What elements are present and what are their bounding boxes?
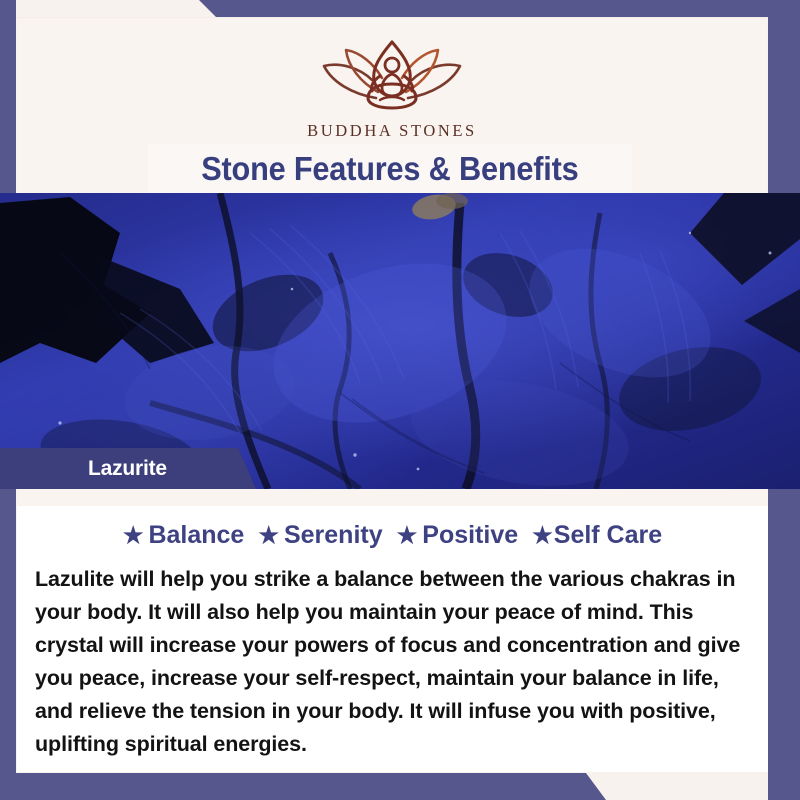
bottom-diagonal-accent bbox=[0, 773, 800, 800]
stone-name: Lazurite bbox=[88, 457, 167, 481]
keyword-serenity: ★ Serenity bbox=[258, 521, 382, 550]
star-icon: ★ bbox=[532, 524, 553, 547]
star-icon: ★ bbox=[123, 524, 144, 547]
star-icon: ★ bbox=[258, 524, 279, 547]
keyword-positive: ★ Positive bbox=[397, 521, 519, 550]
keyword-label: Positive bbox=[422, 521, 518, 550]
page-title: Stone Features & Benefits bbox=[201, 150, 578, 188]
brand-name: BUDDHA STONES bbox=[307, 121, 477, 141]
keyword-label: Serenity bbox=[284, 521, 383, 550]
keyword-label: Self Care bbox=[554, 521, 662, 550]
star-icon: ★ bbox=[397, 524, 418, 547]
content-panel: ★ Balance ★ Serenity ★ Positive ★ Self C… bbox=[17, 489, 768, 772]
description-paragraph: Lazulite will help you strike a balance … bbox=[35, 563, 747, 761]
keyword-self-care: ★ Self Care bbox=[532, 521, 662, 550]
panel-top-strip bbox=[17, 489, 768, 506]
stone-name-band: Lazurite bbox=[0, 448, 256, 489]
lazurite-stone-photo bbox=[0, 193, 800, 489]
keyword-list: ★ Balance ★ Serenity ★ Positive ★ Self C… bbox=[17, 521, 768, 550]
top-diagonal-accent bbox=[0, 0, 800, 17]
poster-card: BUDDHA STONES Stone Features & Benefits bbox=[0, 0, 800, 800]
keyword-label: Balance bbox=[148, 521, 244, 550]
lotus-meditation-logo-icon bbox=[302, 32, 482, 116]
keyword-balance: ★ Balance bbox=[123, 521, 245, 550]
title-plaque: Stone Features & Benefits bbox=[148, 144, 632, 194]
